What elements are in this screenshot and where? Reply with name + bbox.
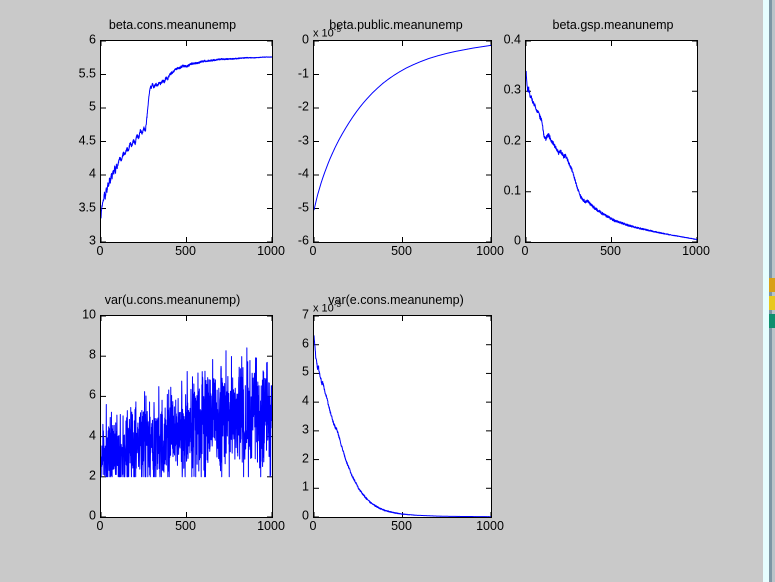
y-axis-exponent-power: -3: [334, 300, 341, 309]
y-axis-tick-label: -2: [267, 101, 309, 114]
background-window-sliver[interactable]: [760, 0, 775, 582]
x-axis-tick-label: 0: [310, 520, 317, 533]
plot-panel-beta-public-meanunemp: beta.public.meanunemp x 10-5 -6-5-4-3-2-…: [285, 18, 507, 273]
y-axis-tick-label: 3: [267, 423, 309, 436]
x-axis-tick-label: 0: [522, 245, 529, 258]
y-axis-tick-label: 0: [479, 235, 521, 248]
y-axis-tick-label: 6: [54, 34, 96, 47]
y-axis-tick-label: -6: [267, 235, 309, 248]
y-axis-tick-label: 5.5: [54, 67, 96, 80]
matlab-figure-window: beta.cons.meanunemp 33.544.555.560500100…: [0, 0, 760, 582]
x-axis-tick-label: 500: [391, 520, 412, 533]
y-axis-tick-label: 6: [54, 389, 96, 402]
x-axis-tick-label: 500: [175, 520, 196, 533]
y-axis-exponent-label: x 10-5: [313, 24, 341, 40]
y-axis-exponent-label: x 10-3: [313, 299, 341, 315]
y-axis-exponent-mantissa: x 10: [313, 303, 334, 315]
x-axis-tick-label: 500: [600, 245, 621, 258]
y-axis-tick-label: 0: [54, 510, 96, 523]
background-window-icon-3: [769, 314, 775, 328]
plot-axes: [313, 315, 492, 518]
y-axis-tick-label: -1: [267, 67, 309, 80]
x-axis-tick-label: 0: [97, 520, 104, 533]
y-axis-tick-label: 2: [267, 452, 309, 465]
y-axis-tick-label: 5: [54, 101, 96, 114]
y-axis-tick-label: 3.5: [54, 201, 96, 214]
y-axis-tick-label: 7: [267, 309, 309, 322]
plot-panel-var-e-cons-meanunemp: var(e.cons.meanunemp) x 10-3 01234567050…: [285, 293, 507, 548]
y-axis-tick-label: 4: [54, 429, 96, 442]
y-axis-tick-label: 0: [267, 34, 309, 47]
plot-title: beta.gsp.meanunemp: [502, 18, 724, 32]
y-axis-tick-label: -5: [267, 201, 309, 214]
plot-panel-var-u-cons-meanunemp: var(u.cons.meanunemp) 024681005001000: [60, 293, 285, 548]
y-axis-tick-label: 0.2: [479, 134, 521, 147]
y-axis-tick-label: 0: [267, 510, 309, 523]
plot-panel-beta-gsp-meanunemp: beta.gsp.meanunemp 00.10.20.30.405001000: [502, 18, 724, 273]
x-axis-tick-label: 500: [391, 245, 412, 258]
y-axis-tick-label: 4: [54, 168, 96, 181]
x-axis-tick-label: 0: [97, 245, 104, 258]
y-axis-exponent-mantissa: x 10: [313, 28, 334, 40]
x-axis-tick-label: 500: [175, 245, 196, 258]
y-axis-tick-label: -3: [267, 134, 309, 147]
plot-axes: [100, 315, 273, 518]
plot-title: var(u.cons.meanunemp): [60, 293, 285, 307]
y-axis-tick-label: 0.3: [479, 84, 521, 97]
y-axis-tick-label: -4: [267, 168, 309, 181]
background-window-icon-1: [769, 278, 775, 292]
y-axis-tick-label: 1: [267, 481, 309, 494]
y-axis-tick-label: 10: [54, 309, 96, 322]
x-axis-tick-label: 1000: [682, 245, 710, 258]
background-window-icon-2: [769, 296, 775, 310]
y-axis-tick-label: 2: [54, 469, 96, 482]
plot-axes: [100, 40, 273, 243]
plot-title: beta.cons.meanunemp: [60, 18, 285, 32]
y-axis-exponent-power: -5: [334, 25, 341, 34]
y-axis-tick-label: 0.4: [479, 34, 521, 47]
y-axis-tick-label: 5: [267, 366, 309, 379]
y-axis-tick-label: 0.1: [479, 184, 521, 197]
x-axis-tick-label: 0: [310, 245, 317, 258]
y-axis-tick-label: 4.5: [54, 134, 96, 147]
y-axis-tick-label: 6: [267, 337, 309, 350]
x-axis-tick-label: 1000: [476, 520, 504, 533]
y-axis-tick-label: 3: [54, 235, 96, 248]
plot-axes: [313, 40, 492, 243]
y-axis-tick-label: 4: [267, 395, 309, 408]
plot-panel-beta-cons-meanunemp: beta.cons.meanunemp 33.544.555.560500100…: [60, 18, 285, 273]
plot-axes: [525, 40, 698, 243]
y-axis-tick-label: 8: [54, 349, 96, 362]
